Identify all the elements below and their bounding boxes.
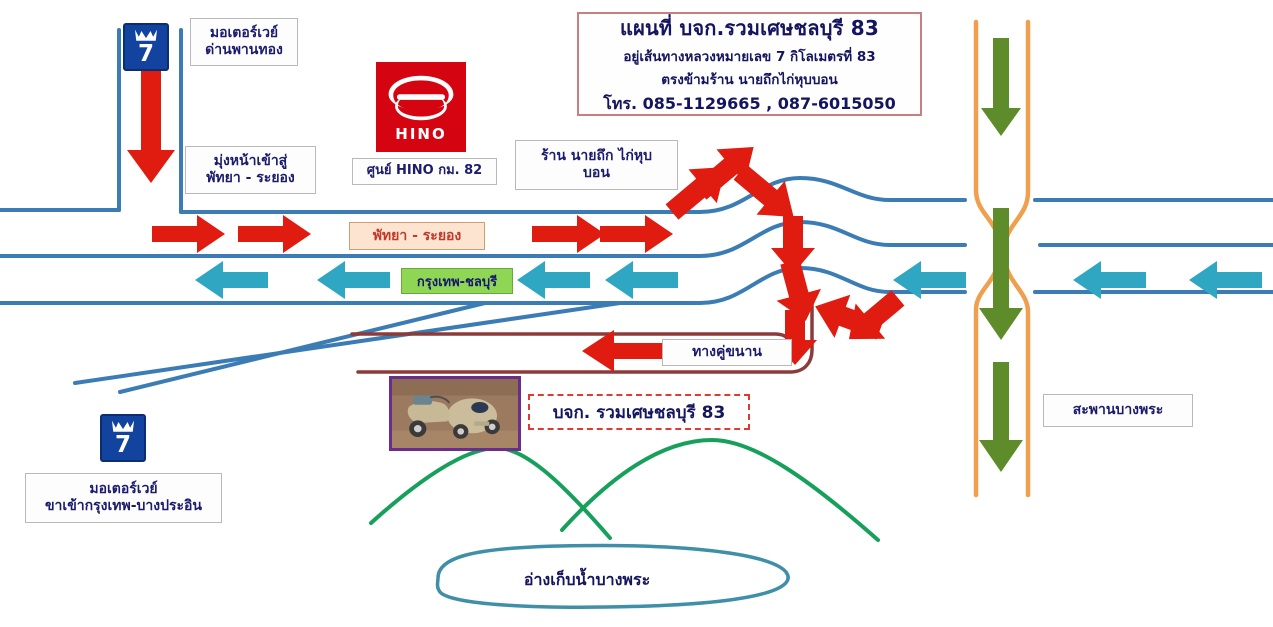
motorway-shield-bottom-number: 7: [115, 434, 131, 456]
bridge-direction-arrows: [979, 38, 1023, 472]
red-arrow-east-1: [152, 215, 225, 253]
route-arrow-to-destination: [582, 330, 672, 372]
label-motorway-bottom-line2: ขาเข้ากรุงเทพ-บางประอิน: [45, 498, 202, 516]
hino-wordmark: HINO: [395, 125, 446, 143]
teal-arrow-west-1: [195, 261, 268, 299]
motorway-shield-top-number: 7: [138, 43, 154, 65]
label-shop-nai-thuek: ร้าน นายถึก ไก่หุบ บอน: [515, 140, 678, 190]
teal-arrow-west-3: [517, 261, 590, 299]
hill-left: [371, 448, 610, 538]
map-title-line3: ตรงข้ามร้าน นายถึกไก่หุบบอน: [661, 68, 837, 90]
green-arrow-top: [981, 38, 1021, 136]
label-heading-line2: พัทยา - ระยอง: [206, 170, 295, 188]
motorway-shield-bottom: 7: [100, 414, 146, 462]
label-parallel-road: ทางคู่ขนาน: [662, 339, 792, 366]
label-shop-line1: ร้าน นายถึก ไก่หุบ: [541, 148, 652, 166]
road-tag-bangkok-chonburi: กรุงเทพ-ชลบุรี: [401, 268, 513, 294]
motorway-shield-top: 7: [123, 23, 169, 71]
label-heading-line1: มุ่งหน้าเข้าสู่: [206, 153, 295, 171]
map-canvas: แผนที่ บจก.รวมเศษชลบุรี 83 อยู่เส้นทางหล…: [0, 0, 1273, 627]
hill-right: [562, 440, 878, 540]
route-arrow-merge: [807, 285, 888, 352]
scooter-sidecar-image: [392, 379, 518, 448]
red-arrow-east-2: [238, 215, 311, 253]
business-photo: [389, 376, 521, 451]
label-bangphra-bridge: สะพานบางพระ: [1043, 394, 1193, 427]
hino-emblem-icon: [384, 72, 458, 124]
label-hino-center: ศูนย์ HINO กม. 82: [352, 158, 497, 185]
green-arrow-middle: [979, 208, 1023, 340]
label-motorway-phan-thong-line2: ด่านพานทอง: [205, 42, 283, 60]
label-motorway-phan-thong: มอเตอร์เวย์ ด่านพานทอง: [190, 18, 298, 66]
road-mid-overpass: [700, 222, 965, 256]
red-arrow-east-3: [532, 215, 605, 253]
map-title-line1: แผนที่ บจก.รวมเศษชลบุรี 83: [620, 12, 879, 44]
label-heading-to-pattaya-rayong: มุ่งหน้าเข้าสู่ พัทยา - ระยอง: [185, 146, 316, 194]
red-arrow-east-4: [600, 215, 673, 253]
label-motorway-phan-thong-line1: มอเตอร์เวย์: [205, 25, 283, 43]
hills: [371, 440, 878, 540]
hino-logo: HINO: [376, 62, 466, 152]
label-motorway-to-bangkok: มอเตอร์เวย์ ขาเข้ากรุงเทพ-บางประอิน: [25, 473, 222, 523]
teal-arrow-west-2: [317, 261, 390, 299]
red-arrow-vertical: [127, 58, 175, 183]
teal-arrow-west-4: [605, 261, 678, 299]
destination-callout: บจก. รวมเศษชลบุรี 83: [528, 394, 750, 430]
map-title-line2: อยู่เส้นทางหลวงหมายเลข 7 กิโลเมตรที่ 83: [623, 45, 875, 67]
motorway-direction-arrow: [127, 58, 175, 183]
map-title-phone: โทร. 085-1129665 , 087-6015050: [603, 92, 896, 117]
label-motorway-bottom-line1: มอเตอร์เวย์: [45, 481, 202, 499]
label-reservoir: อ่างเก็บน้ำบางพระ: [452, 568, 722, 593]
road-tag-pattaya-rayong: พัทยา - ระยอง: [349, 222, 485, 250]
label-shop-line2: บอน: [541, 165, 652, 183]
green-arrow-bottom: [979, 362, 1023, 472]
map-title-box: แผนที่ บจก.รวมเศษชลบุรี 83 อยู่เส้นทางหล…: [577, 12, 922, 116]
